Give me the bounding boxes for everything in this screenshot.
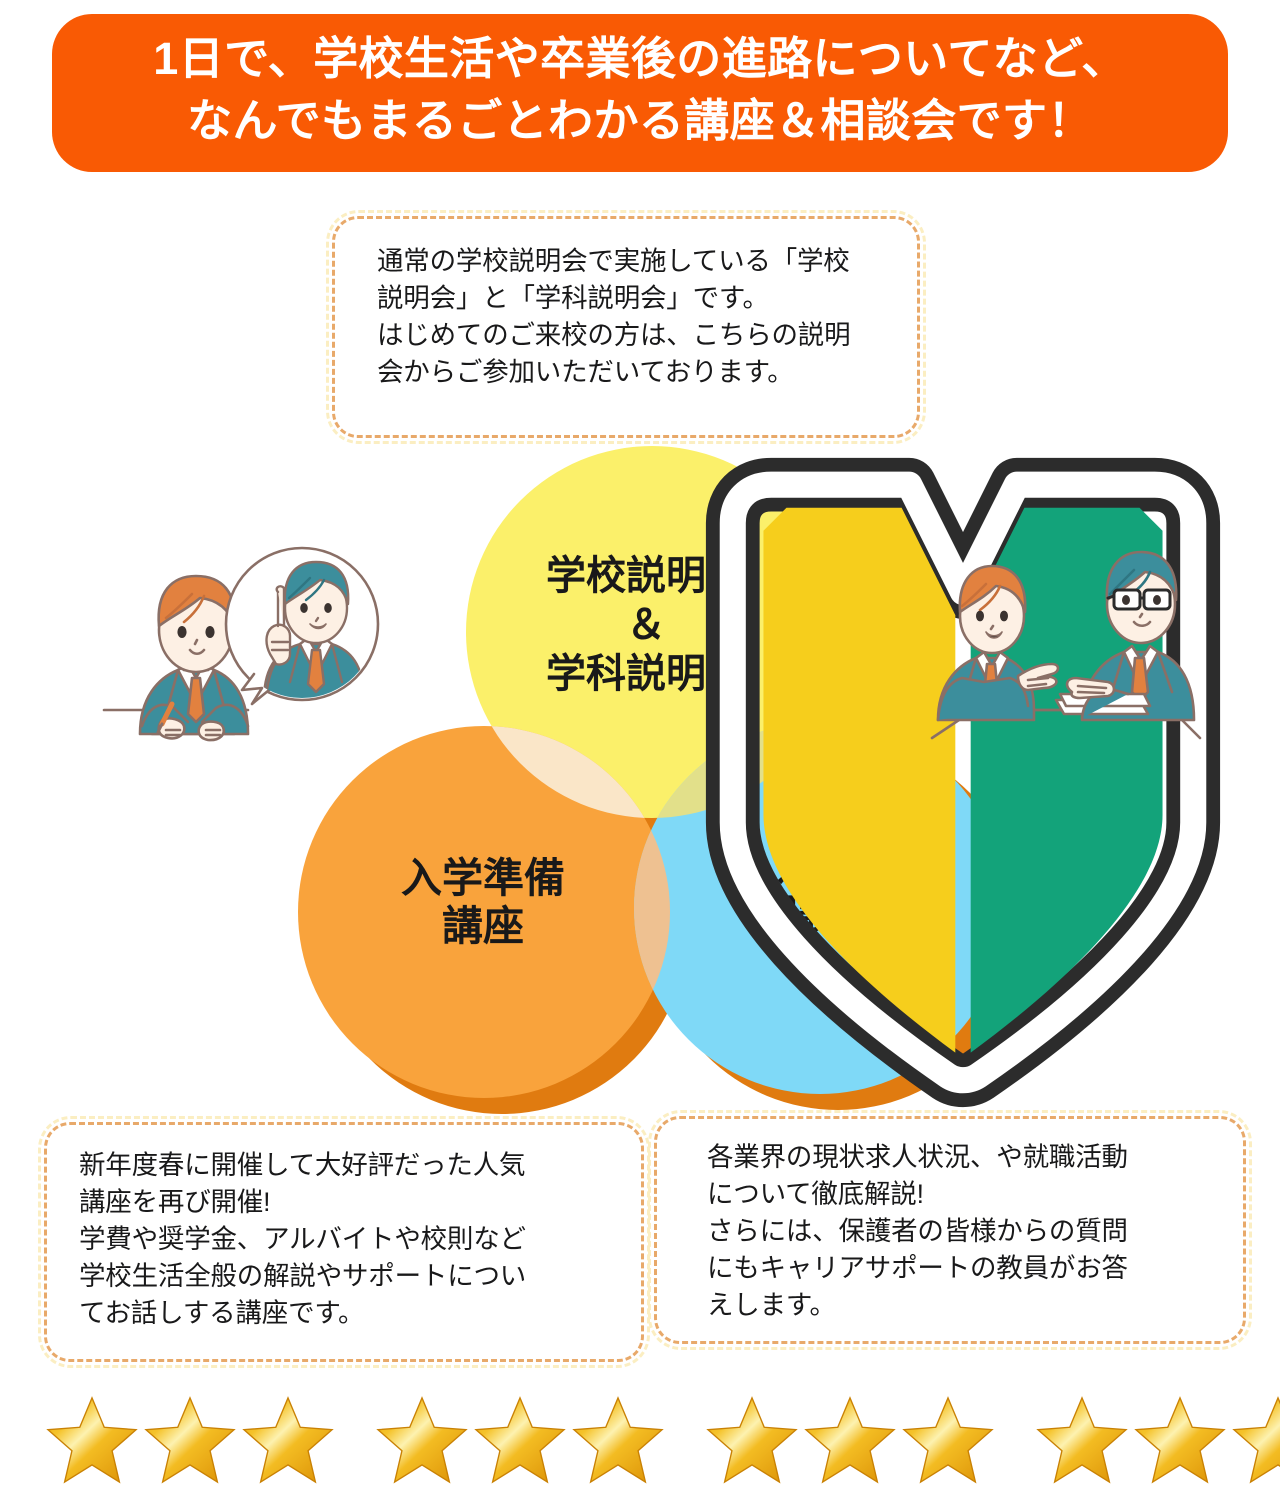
star-icon [704, 1394, 800, 1486]
star-group [374, 1394, 666, 1486]
star-icon [1230, 1394, 1280, 1486]
callout-course-prep: 新年度春に開催して大好評だった人気 講座を再び開催! 学費や奨学金、アルバイトや… [44, 1122, 644, 1362]
callout-career-consult-text: 各業界の現状求人状況、や就職活動 について徹底解説! さらには、保護者の皆様から… [707, 1139, 1229, 1324]
star-icon [1132, 1394, 1228, 1486]
venn-diagram: 学校説明会 ＆ 学科説明会 入学準備 講座 進路 相談会 [296, 442, 1008, 1102]
student-taking-notes-illustration [96, 538, 388, 760]
callout-career-consult: 各業界の現状求人状況、や就職活動 について徹底解説! さらには、保護者の皆様から… [654, 1116, 1246, 1344]
star-icon [44, 1394, 140, 1486]
star-icon [1034, 1394, 1130, 1486]
star-icon [570, 1394, 666, 1486]
star-group [704, 1394, 996, 1486]
star-icon [240, 1394, 336, 1486]
banner-line-1: 1日で、学校生活や卒業後の進路についてなど、 [153, 28, 1126, 90]
callout-school-briefing: 通常の学校説明会で実施している「学校 説明会」と「学科説明会」です。 はじめての… [332, 216, 920, 438]
wakaba-beginner-mark-icon [607, 454, 671, 540]
star-rating-row [44, 1394, 1240, 1494]
callout-course-prep-text: 新年度春に開催して大好評だった人気 講座を再び開催! 学費や奨学金、アルバイトや… [79, 1147, 627, 1332]
banner-line-2: なんでもまるごとわかる講座＆相談会です！ [187, 90, 1093, 152]
star-group [44, 1394, 336, 1486]
star-icon [900, 1394, 996, 1486]
star-icon [374, 1394, 470, 1486]
header-banner: 1日で、学校生活や卒業後の進路についてなど、 なんでもまるごとわかる講座＆相談会… [52, 14, 1228, 172]
star-group [1034, 1394, 1280, 1486]
star-icon [142, 1394, 238, 1486]
callout-school-briefing-text: 通常の学校説明会で実施している「学校 説明会」と「学科説明会」です。 はじめての… [377, 243, 899, 391]
infographic-page: 1日で、学校生活や卒業後の進路についてなど、 なんでもまるごとわかる講座＆相談会… [0, 0, 1280, 1500]
student-teacher-consultation-illustration [922, 524, 1212, 756]
star-icon [472, 1394, 568, 1486]
star-icon [802, 1394, 898, 1486]
